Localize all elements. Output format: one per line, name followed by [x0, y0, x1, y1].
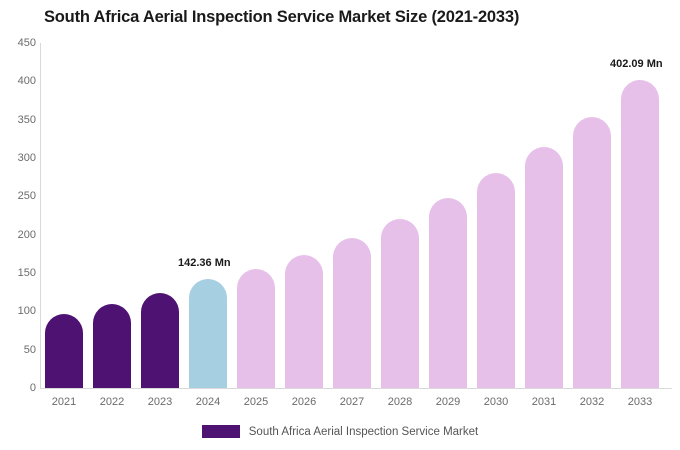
bar-2024[interactable]: [189, 279, 227, 388]
y-axis-tick-label: 100: [2, 305, 36, 317]
bar-column[interactable]: [525, 147, 563, 389]
bar-column[interactable]: [429, 198, 467, 388]
y-axis-tick-label: 150: [2, 267, 36, 279]
bar-column[interactable]: [621, 80, 659, 388]
bar-2028[interactable]: [381, 219, 419, 388]
bar-column[interactable]: [93, 304, 131, 388]
x-axis-tick-label: 2023: [141, 396, 179, 408]
bar-column[interactable]: [285, 255, 323, 388]
y-axis-tick-label: 200: [2, 229, 36, 241]
bar-2022[interactable]: [93, 304, 131, 388]
y-axis-ticks: 050100150200250300350400450: [0, 0, 36, 450]
x-axis-tick-label: 2026: [285, 396, 323, 408]
bar-column[interactable]: [141, 293, 179, 388]
bar-2025[interactable]: [237, 269, 275, 388]
y-axis-tick-label: 300: [2, 152, 36, 164]
chart-title: South Africa Aerial Inspection Service M…: [44, 8, 519, 27]
x-axis-tick-label: 2025: [237, 396, 275, 408]
x-axis-tick-label: 2031: [525, 396, 563, 408]
chart-legend: South Africa Aerial Inspection Service M…: [0, 425, 680, 438]
x-axis-line: [40, 388, 672, 389]
x-axis-tick-label: 2022: [93, 396, 131, 408]
bar-column[interactable]: [333, 238, 371, 388]
y-axis-tick-label: 250: [2, 190, 36, 202]
bar-2032[interactable]: [573, 117, 611, 388]
y-axis-tick-label: 400: [2, 75, 36, 87]
bar-2026[interactable]: [285, 255, 323, 388]
x-axis-tick-label: 2021: [45, 396, 83, 408]
bar-value-label-2024: 142.36 Mn: [178, 257, 231, 269]
y-axis-tick-label: 50: [2, 344, 36, 356]
y-axis-tick-label: 450: [2, 37, 36, 49]
y-axis-tick-label: 350: [2, 114, 36, 126]
bar-2033[interactable]: [621, 80, 659, 388]
x-axis-tick-label: 2032: [573, 396, 611, 408]
bar-column[interactable]: [381, 219, 419, 388]
bar-chart: South Africa Aerial Inspection Service M…: [0, 0, 680, 450]
bar-2021[interactable]: [45, 314, 83, 388]
bar-2027[interactable]: [333, 238, 371, 388]
y-axis-tick-label: 0: [2, 382, 36, 394]
bar-2023[interactable]: [141, 293, 179, 388]
bar-value-label-2033: 402.09 Mn: [610, 58, 663, 70]
legend-label: South Africa Aerial Inspection Service M…: [249, 426, 478, 438]
bar-2029[interactable]: [429, 198, 467, 388]
x-axis-tick-label: 2028: [381, 396, 419, 408]
bar-column[interactable]: [237, 269, 275, 388]
x-axis-tick-label: 2033: [621, 396, 659, 408]
legend-item[interactable]: South Africa Aerial Inspection Service M…: [202, 425, 478, 438]
x-axis-tick-label: 2024: [189, 396, 227, 408]
x-axis-tick-label: 2029: [429, 396, 467, 408]
legend-swatch: [202, 425, 240, 438]
bar-column[interactable]: [477, 173, 515, 388]
bar-column[interactable]: [573, 117, 611, 388]
bar-column[interactable]: [189, 279, 227, 388]
bar-column[interactable]: [45, 314, 83, 388]
bar-2030[interactable]: [477, 173, 515, 388]
bar-2031[interactable]: [525, 147, 563, 389]
x-axis-tick-label: 2030: [477, 396, 515, 408]
x-axis-tick-label: 2027: [333, 396, 371, 408]
